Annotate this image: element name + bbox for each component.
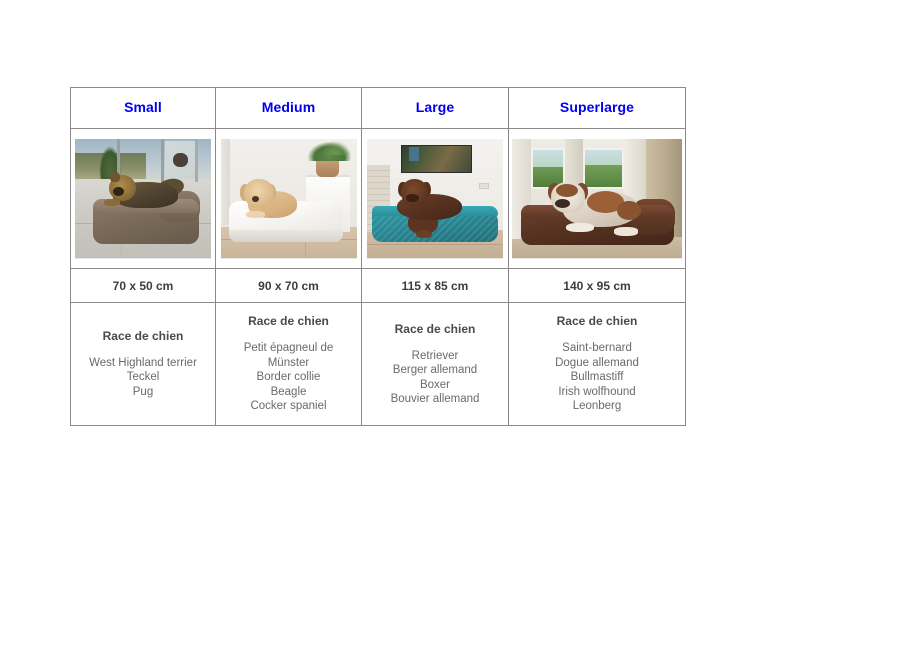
list-item: Irish wolfhound [509,385,685,400]
list-item: Bouvier allemand [362,392,508,407]
dimension-cell-superlarge: 140 x 95 cm [509,269,686,303]
table-photo-row [71,129,686,269]
list-item: Border collie [216,370,361,385]
header-cell-superlarge: Superlarge [509,88,686,129]
list-item: Teckel [71,370,215,385]
dimension-superlarge: 140 x 95 cm [563,279,630,293]
dimension-small: 70 x 50 cm [113,279,174,293]
size-header-large: Large [416,99,455,115]
size-header-superlarge: Superlarge [560,99,634,115]
size-header-medium: Medium [262,99,316,115]
breed-list-small: West Highland terrier Teckel Pug [71,356,215,400]
medium-dog-bed-photo [221,139,357,259]
list-item: Berger allemand [362,363,508,378]
large-dog-bed-photo [367,139,503,259]
photo-cell-small [71,129,216,269]
dimension-large: 115 x 85 cm [402,279,469,293]
breeds-cell-medium: Race de chien Petit épagneul de Münster … [216,303,362,426]
list-item: Cocker spaniel [216,399,361,414]
photo-cell-large [362,129,509,269]
breeds-cell-large: Race de chien Retriever Berger allemand … [362,303,509,426]
breed-title-small: Race de chien [71,329,215,343]
header-cell-small: Small [71,88,216,129]
list-item: Retriever [362,349,508,364]
superlarge-dog-bed-photo [512,139,682,259]
list-item: West Highland terrier [71,356,215,371]
list-item: Bullmastiff [509,370,685,385]
breed-list-medium: Petit épagneul de Münster Border collie … [216,341,361,414]
breed-list-superlarge: Saint-bernard Dogue allemand Bullmastiff… [509,341,685,414]
breed-title-large: Race de chien [362,322,508,336]
photo-cell-superlarge [509,129,686,269]
list-item: Pug [71,385,215,400]
list-item: Boxer [362,378,508,393]
dimension-medium: 90 x 70 cm [258,279,319,293]
breeds-cell-superlarge: Race de chien Saint-bernard Dogue allema… [509,303,686,426]
list-item: Dogue allemand [509,356,685,371]
list-item: Beagle [216,385,361,400]
dog-bed-size-table: Small Medium Large Superlarge [70,87,686,426]
small-dog-bed-photo [75,139,211,259]
size-header-small: Small [124,99,162,115]
list-item: Münster [216,356,361,371]
table-dimension-row: 70 x 50 cm 90 x 70 cm 115 x 85 cm 140 x … [71,269,686,303]
breed-list-large: Retriever Berger allemand Boxer Bouvier … [362,349,508,407]
table-breeds-row: Race de chien West Highland terrier Teck… [71,303,686,426]
breed-title-superlarge: Race de chien [509,314,685,328]
photo-cell-medium [216,129,362,269]
header-cell-medium: Medium [216,88,362,129]
dimension-cell-small: 70 x 50 cm [71,269,216,303]
table-header-row: Small Medium Large Superlarge [71,88,686,129]
dimension-cell-large: 115 x 85 cm [362,269,509,303]
list-item: Leonberg [509,399,685,414]
breeds-cell-small: Race de chien West Highland terrier Teck… [71,303,216,426]
list-item: Petit épagneul de [216,341,361,356]
dimension-cell-medium: 90 x 70 cm [216,269,362,303]
header-cell-large: Large [362,88,509,129]
list-item: Saint-bernard [509,341,685,356]
breed-title-medium: Race de chien [216,314,361,328]
